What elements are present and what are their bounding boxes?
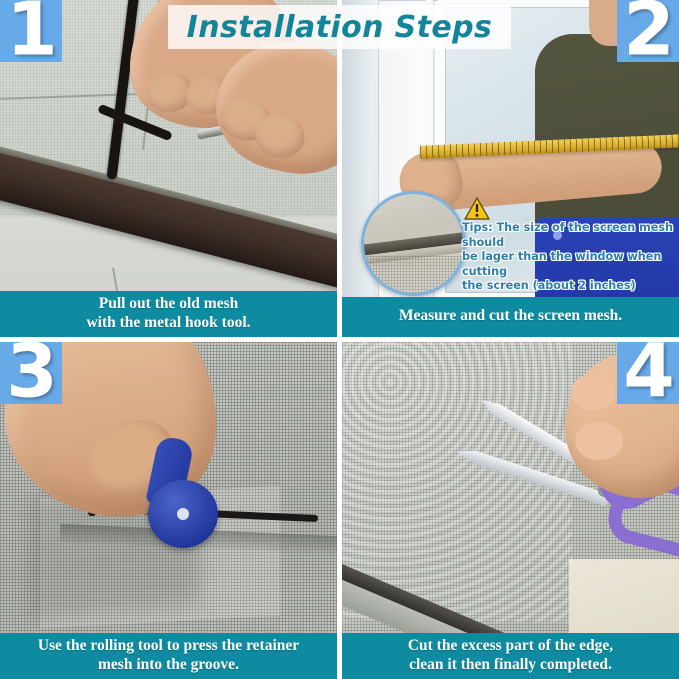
installation-steps-infographic: 1 Pull out the old mesh with the metal h… [0,0,679,679]
warning-triangle-icon [464,197,490,220]
step-number-3: 3 [6,342,56,409]
step-number-badge-1: 1 [0,0,62,62]
step-number-badge-4: 4 [617,342,679,404]
step-caption-4: Cut the excess part of the edge, clean i… [342,633,679,679]
finger [575,422,623,460]
caption-line: Cut the excess part of the edge, [408,637,613,655]
step-caption-1: Pull out the old mesh with the metal hoo… [0,291,337,337]
step-number-1: 1 [6,0,56,67]
caption-line: with the metal hook tool. [86,314,250,332]
tips-line: be lager than the window when cutting [462,250,674,279]
page-title: Installation Steps [187,10,493,45]
caption-line: Pull out the old mesh [86,295,250,313]
finger [571,374,615,410]
caption-line: Use the rolling tool to press the retain… [38,637,299,655]
wheel-hub [177,508,189,520]
step-caption-3: Use the rolling tool to press the retain… [0,633,337,679]
tips-callout: Tips: The size of the screen mesh should… [462,197,674,294]
caption-line: clean it then finally completed. [408,656,613,674]
steps-grid: 1 Pull out the old mesh with the metal h… [0,0,679,679]
step-number-4: 4 [623,342,673,409]
mesh-closeup [364,256,463,296]
step-number-badge-2: 2 [617,0,679,62]
caption-line: mesh into the groove. [38,656,299,674]
title-banner: Installation Steps [168,5,511,49]
caption-line: Measure and cut the screen mesh. [399,307,622,325]
step-caption-2: Measure and cut the screen mesh. [342,297,679,337]
tips-text: Tips: The size of the screen mesh should… [462,221,674,294]
step-panel-1: 1 Pull out the old mesh with the metal h… [0,0,337,337]
magnifier-inset [361,191,466,296]
step-panel-4: 4 Cut the excess part of the edge, clean… [342,342,679,679]
tips-line: the screen (about 2 inches) [462,279,674,294]
step-panel-3: 3 Use the rolling tool to press the reta… [0,342,337,679]
step-number-badge-3: 3 [0,342,62,404]
rolling-tool-wheel [148,480,218,548]
step-panel-2: Tips: The size of the screen mesh should… [342,0,679,337]
tips-line: Tips: The size of the screen mesh should [462,221,674,250]
step-number-2: 2 [623,0,673,67]
